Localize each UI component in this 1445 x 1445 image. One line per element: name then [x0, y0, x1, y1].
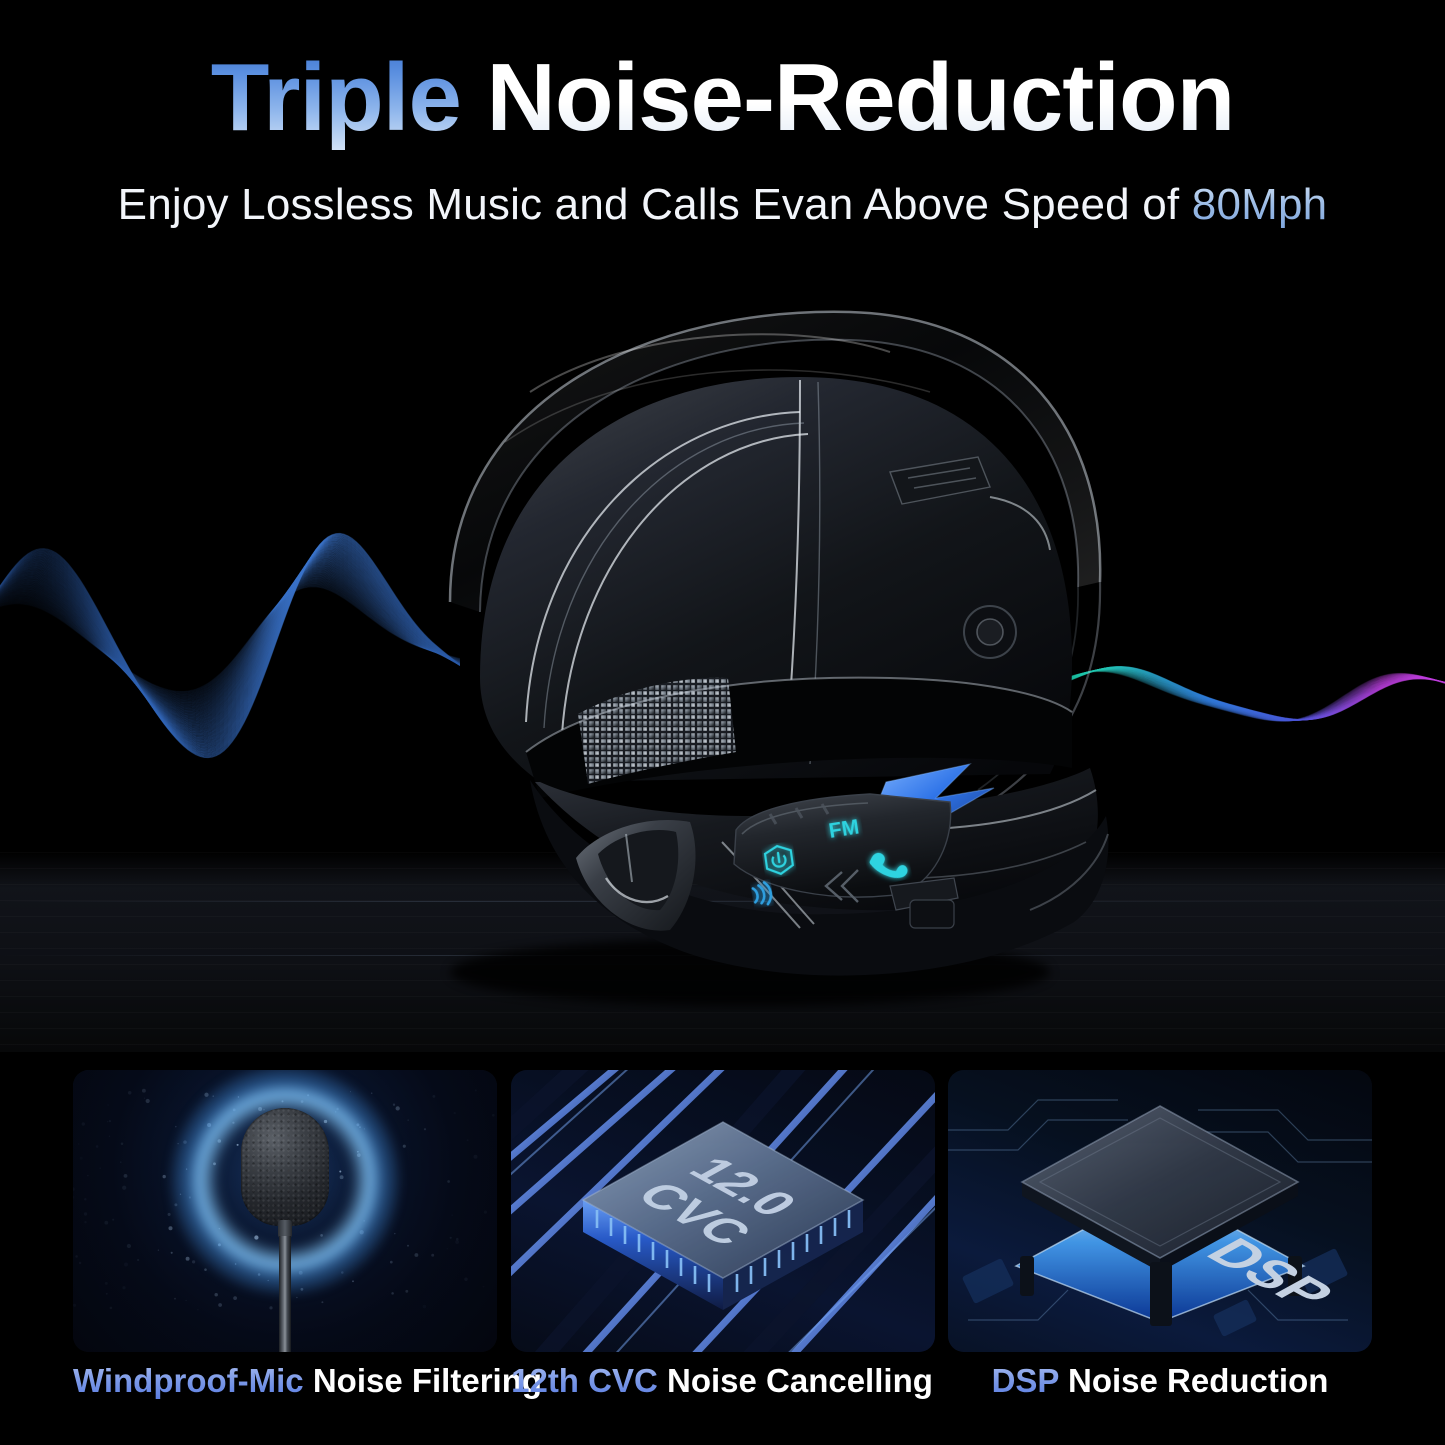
title-rest-text: Noise-Reduction [461, 44, 1234, 151]
circuit-traces: 12.0 CVC [511, 1070, 935, 1352]
header-section: Triple Noise-Reduction Enjoy Lossless Mu… [0, 0, 1445, 262]
microphone-foam-windscreen [241, 1108, 329, 1226]
features-section: 12.0 CVC [0, 1052, 1445, 1445]
caption-rest: Noise Reduction [1059, 1362, 1329, 1399]
feature-panel-windproof-mic[interactable] [73, 1070, 497, 1352]
caption-accent: Windproof-Mic [73, 1362, 304, 1399]
subtitle-accent-text: 80Mph [1192, 180, 1328, 229]
caption-accent: 12th CVC [511, 1362, 658, 1399]
microphone-stem [279, 1236, 291, 1352]
product-marketing-image: Triple Noise-Reduction Enjoy Lossless Mu… [0, 0, 1445, 1445]
caption-accent: DSP [992, 1362, 1059, 1399]
motorcycle-helmet: FM [330, 282, 1120, 1022]
feature-panels: 12.0 CVC [73, 1070, 1372, 1352]
feature-caption-windproof-mic: Windproof-Mic Noise Filtering [73, 1362, 497, 1400]
hero-section: FM [0, 262, 1445, 1052]
subtitle-main-text: Enjoy Lossless Music and Calls Evan Abov… [118, 180, 1192, 229]
feature-panel-cvc-chip[interactable]: 12.0 CVC [511, 1070, 935, 1352]
caption-rest: Noise Filtering [304, 1362, 542, 1399]
page-subtitle: Enjoy Lossless Music and Calls Evan Abov… [0, 180, 1445, 230]
feature-caption-cvc: 12th CVC Noise Cancelling [510, 1362, 934, 1400]
page-title: Triple Noise-Reduction [0, 48, 1445, 149]
chin-vent [576, 820, 696, 931]
title-accent-text: Triple [211, 44, 461, 151]
feature-panel-dsp-chip[interactable]: DSP [948, 1070, 1372, 1352]
caption-rest: Noise Cancelling [658, 1362, 933, 1399]
feature-caption-dsp: DSP Noise Reduction [948, 1362, 1372, 1400]
circuit-traces: DSP [948, 1070, 1372, 1352]
visor-pivot [964, 606, 1016, 658]
feature-captions: Windproof-Mic Noise Filtering 12th CVC N… [0, 1362, 1445, 1422]
fm-label: FM [827, 815, 861, 842]
